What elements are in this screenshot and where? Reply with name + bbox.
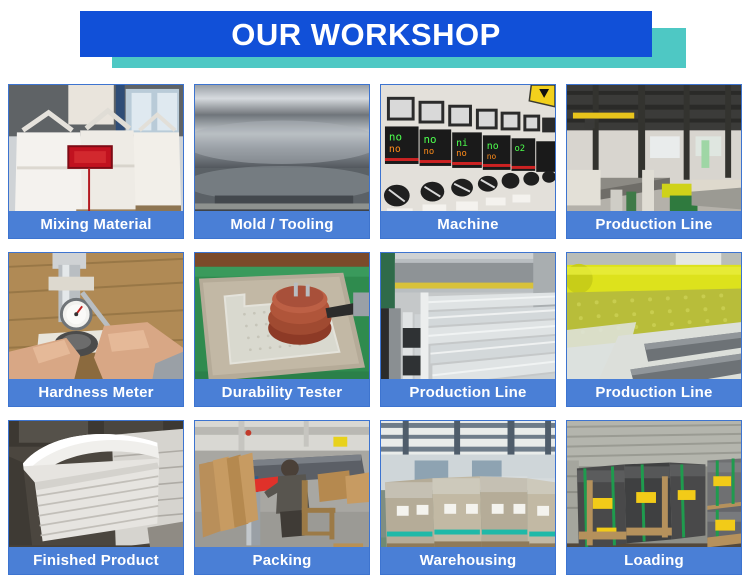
svg-text:no: no — [487, 141, 499, 152]
svg-text:no: no — [487, 152, 497, 161]
gallery-tile[interactable]: Production Line — [566, 252, 742, 407]
tile-caption-text: Production Line — [409, 385, 526, 400]
tile-caption-text: Machine — [437, 217, 498, 232]
svg-text:ni: ni — [456, 138, 468, 149]
tile-caption-text: Warehousing — [420, 553, 517, 568]
workshop-gallery-page: OUR WORKSHOP — [0, 0, 750, 582]
tile-caption-text: Packing — [253, 553, 312, 568]
gallery-tile[interactable]: Hardness Meter — [8, 252, 184, 407]
page-header: OUR WORKSHOP — [0, 0, 750, 78]
gallery-tile[interactable]: Production Line — [380, 252, 556, 407]
tile-caption: Packing — [195, 547, 369, 574]
svg-text:no: no — [389, 144, 401, 155]
tile-caption: Production Line — [381, 379, 555, 406]
gallery-tile[interactable]: Finished Product — [8, 420, 184, 575]
gallery-tile[interactable]: Durability Tester — [194, 252, 370, 407]
svg-text:o2: o2 — [514, 144, 525, 154]
tile-caption: Loading — [567, 547, 741, 574]
svg-text:no: no — [424, 133, 437, 146]
svg-text:no: no — [456, 149, 467, 159]
svg-text:no: no — [389, 130, 402, 143]
gallery-tile[interactable]: Packing — [194, 420, 370, 575]
tile-caption: Production Line — [567, 379, 741, 406]
gallery-tile[interactable]: Warehousing — [380, 420, 556, 575]
gallery-tile[interactable]: no no no no ni no no no — [380, 84, 556, 239]
tile-caption-text: Loading — [624, 553, 684, 568]
gallery-tile[interactable]: Mold / Tooling — [194, 84, 370, 239]
gallery-tile[interactable]: Mixing Material — [8, 84, 184, 239]
tile-caption: Durability Tester — [195, 379, 369, 406]
tile-caption-text: Finished Product — [33, 553, 159, 568]
svg-text:no: no — [424, 147, 435, 157]
tile-caption: Finished Product — [9, 547, 183, 574]
tile-caption-text: Durability Tester — [222, 385, 343, 400]
tile-caption: Machine — [381, 211, 555, 238]
tile-caption-text: Production Line — [595, 217, 712, 232]
page-title: OUR WORKSHOP — [231, 19, 501, 50]
gallery-tile[interactable]: Loading — [566, 420, 742, 575]
tile-caption-text: Mold / Tooling — [230, 217, 333, 232]
header-banner: OUR WORKSHOP — [80, 11, 652, 57]
tile-caption: Warehousing — [381, 547, 555, 574]
tile-caption: Hardness Meter — [9, 379, 183, 406]
tile-caption: Production Line — [567, 211, 741, 238]
gallery-grid: Mixing Material — [8, 84, 742, 575]
tile-caption: Mixing Material — [9, 211, 183, 238]
tile-caption-text: Hardness Meter — [38, 385, 153, 400]
tile-caption: Mold / Tooling — [195, 211, 369, 238]
tile-caption-text: Mixing Material — [40, 217, 151, 232]
gallery-tile[interactable]: Production Line — [566, 84, 742, 239]
tile-caption-text: Production Line — [595, 385, 712, 400]
